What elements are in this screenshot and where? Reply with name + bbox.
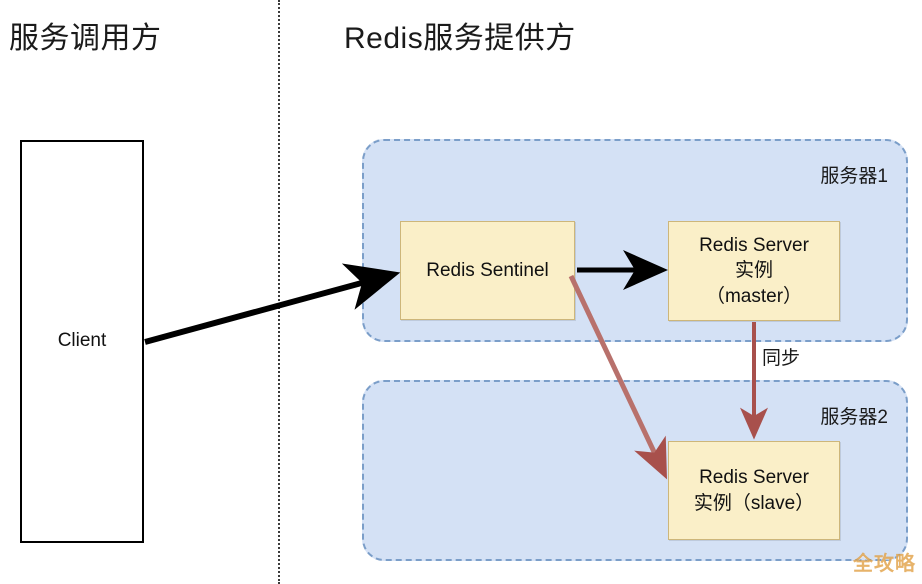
server-2-caption: 服务器2	[820, 402, 888, 429]
watermark-label: 全攻略	[853, 547, 916, 576]
node-redis-server-master: Redis Server 实例 （master）	[668, 221, 840, 321]
section-title-consumer: 服务调用方	[9, 24, 162, 54]
node-slave-line-1: Redis Server	[699, 465, 809, 490]
node-redis-server-slave: Redis Server 实例（slave）	[668, 441, 840, 540]
node-slave-line-2: 实例（slave）	[694, 491, 814, 516]
section-title-provider: Redis服务提供方	[344, 24, 576, 54]
client-label: Client	[22, 330, 142, 352]
node-sentinel-line-1: Redis Sentinel	[426, 258, 549, 283]
edge-client-to-sentinel	[145, 275, 391, 342]
server-1-caption: 服务器1	[820, 161, 888, 188]
node-master-line-1: Redis Server	[699, 233, 809, 258]
node-master-line-3: （master）	[706, 284, 802, 309]
client-box: Client	[20, 140, 144, 543]
sync-edge-label: 同步	[762, 343, 800, 370]
node-redis-sentinel: Redis Sentinel	[400, 221, 575, 320]
diagram-canvas: 服务调用方 Redis服务提供方 服务器1 服务器2 Client Redis …	[0, 0, 922, 584]
vertical-dotted-divider	[278, 0, 280, 584]
node-master-line-2: 实例	[735, 258, 773, 283]
